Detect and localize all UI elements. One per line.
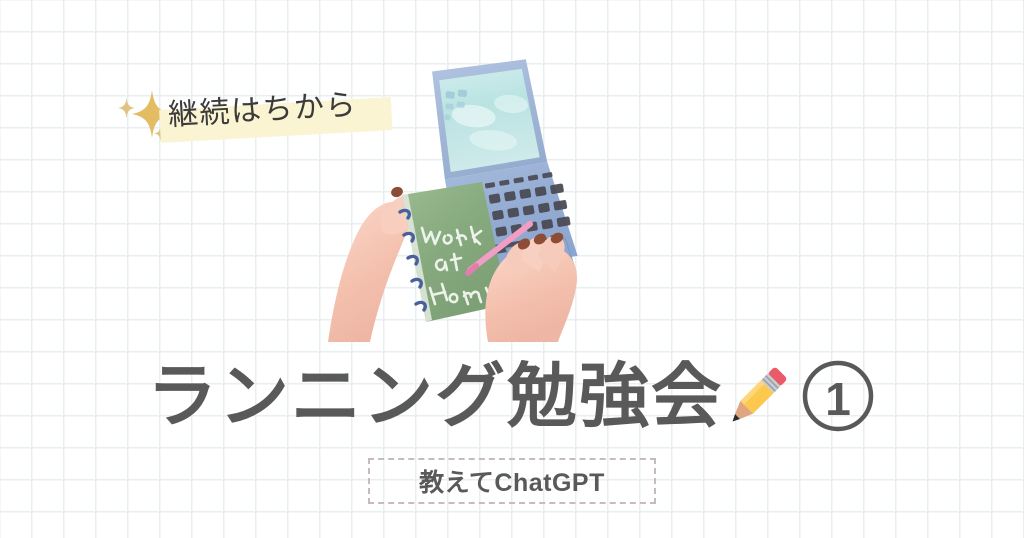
page-title: ランニング勉強会 — [147, 361, 723, 431]
work-at-home-illustration — [318, 42, 648, 342]
circled-number-one-icon: 1 — [799, 357, 877, 435]
sparkle-small-icon — [118, 98, 135, 118]
svg-text:1: 1 — [825, 373, 851, 425]
main-title-row: ランニング勉強会 — [0, 348, 1024, 444]
slide-canvas: 継続はちから — [0, 0, 1024, 538]
subtitle-text: 教えてChatGPT — [419, 463, 605, 499]
subtitle-box: 教えてChatGPT — [368, 458, 656, 504]
pencil-icon — [721, 359, 795, 433]
